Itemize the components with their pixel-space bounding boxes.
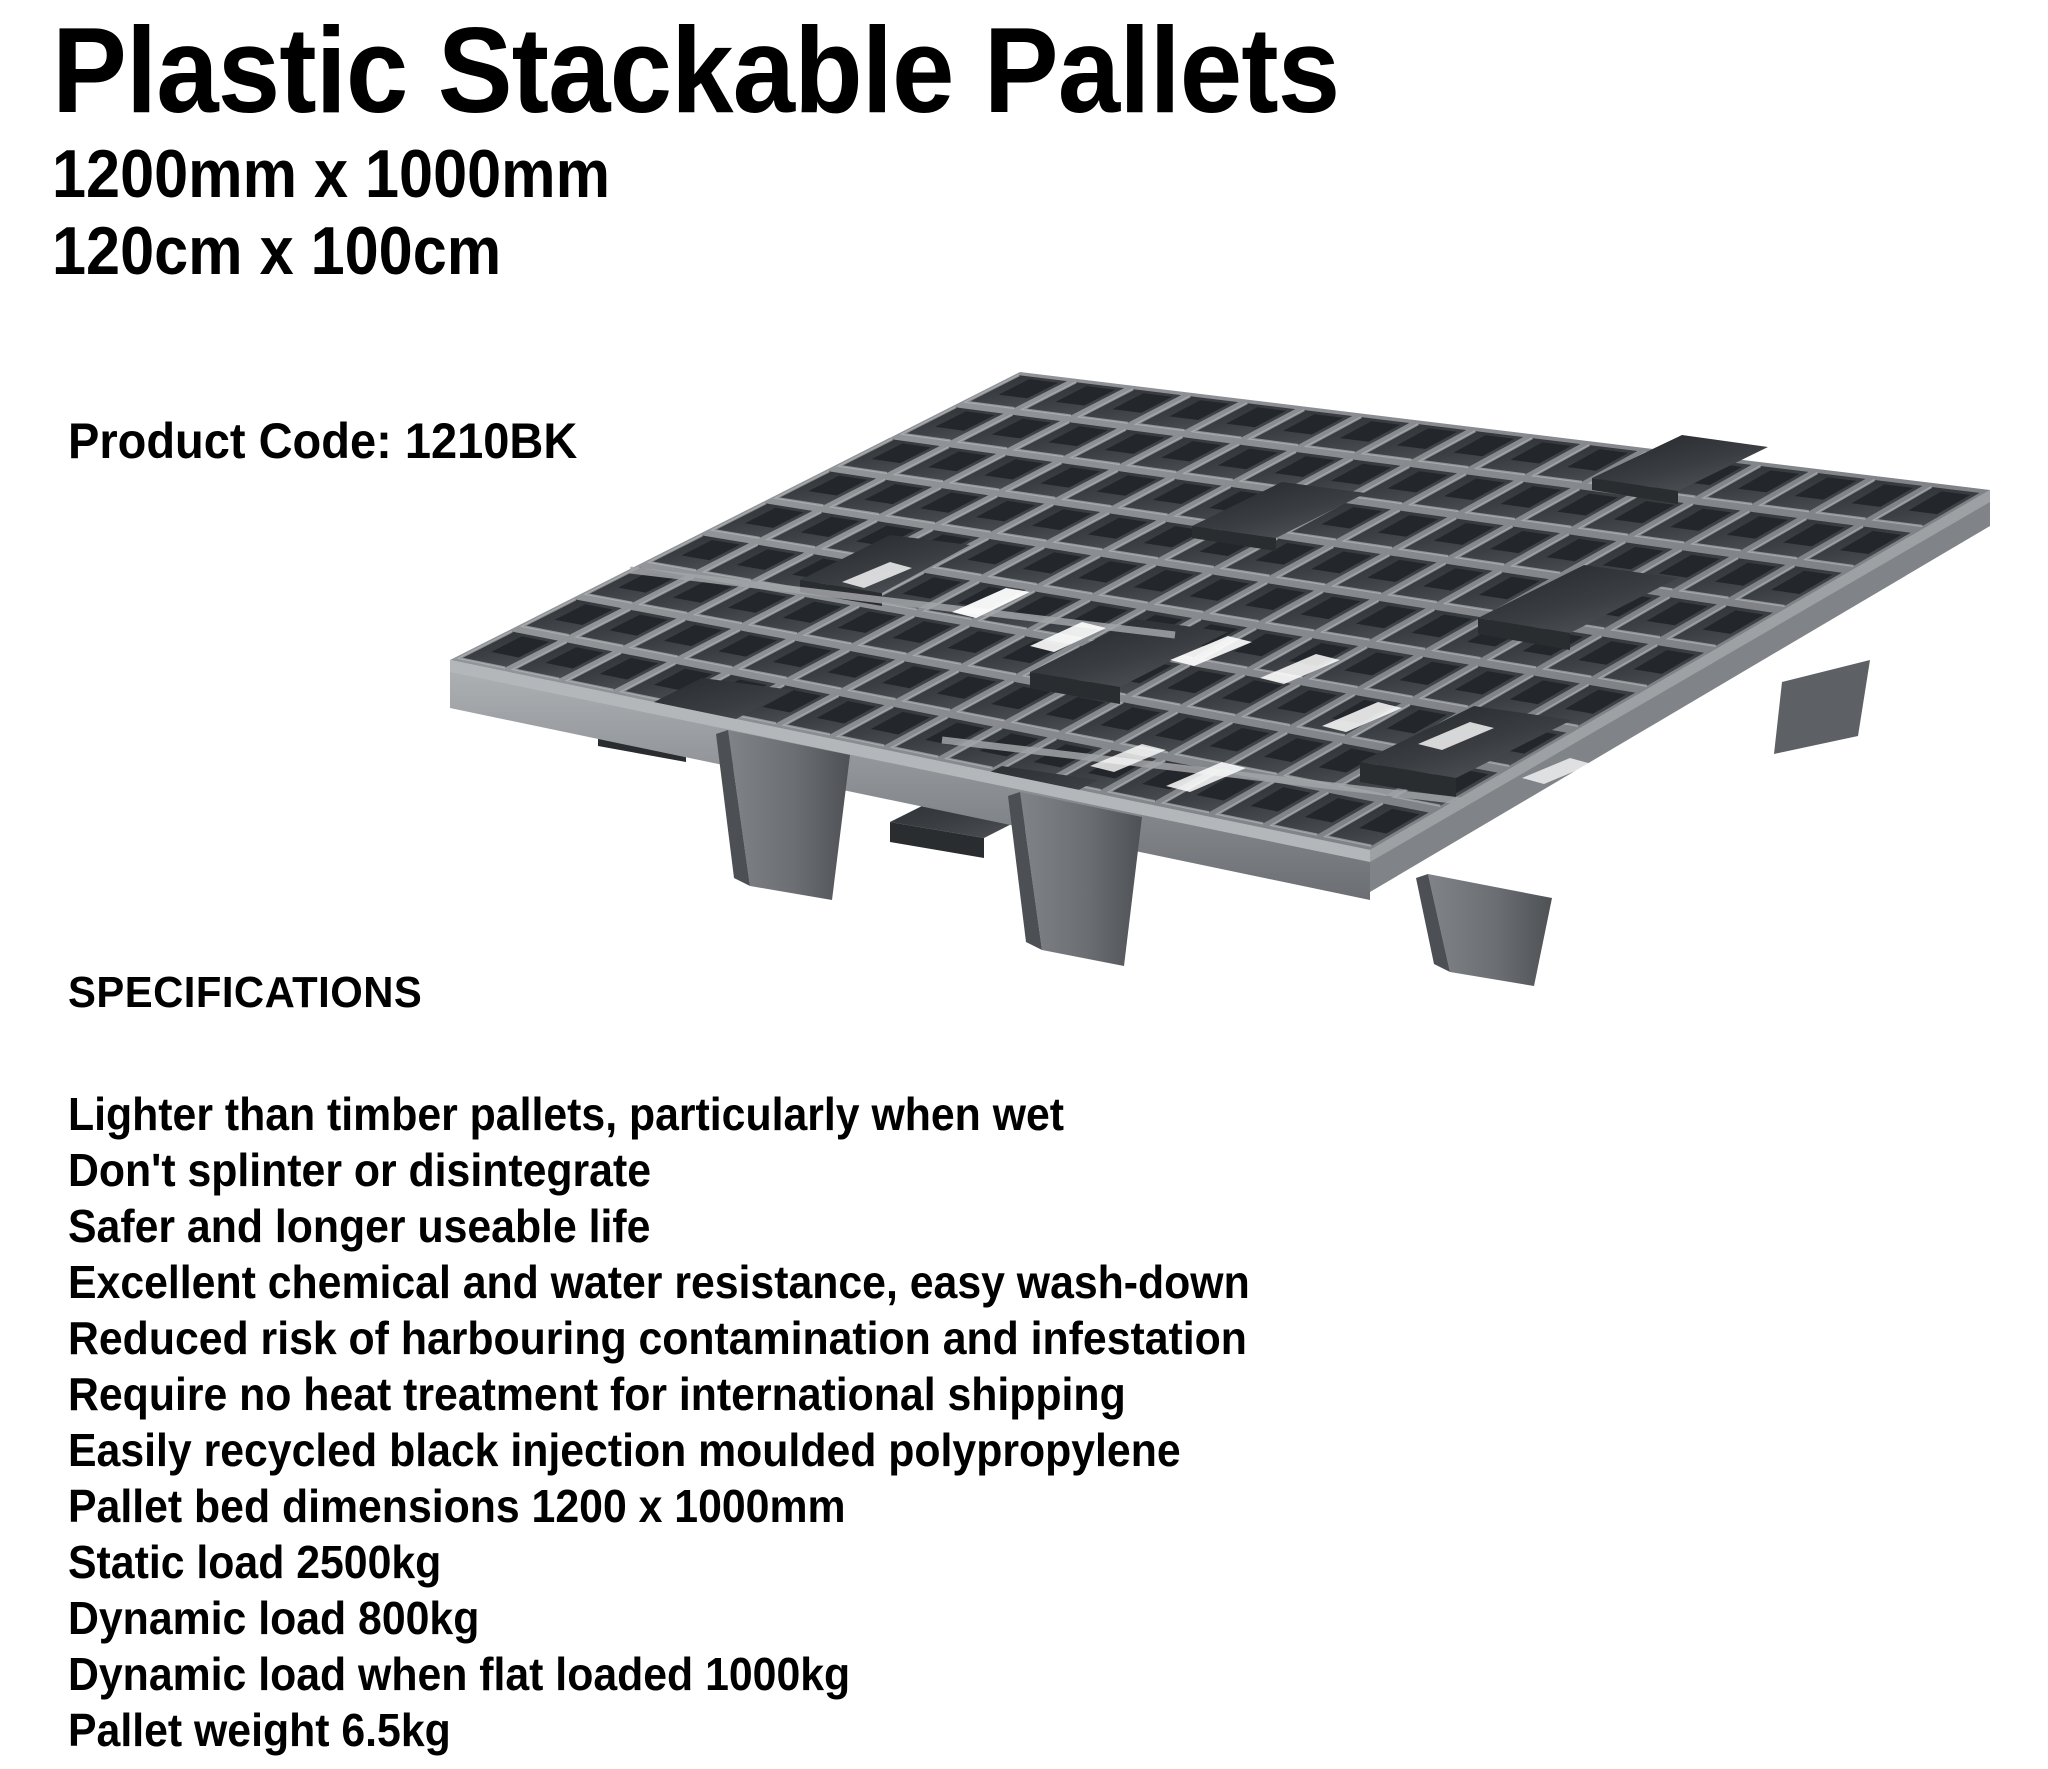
spec-item: Easily recycled black injection moulded … [68, 1422, 1184, 1478]
dimension-mm: 1200mm x 1000mm [52, 136, 1717, 212]
spec-item: Dynamic load 800kg [68, 1590, 1184, 1646]
specifications-heading: SPECIFICATIONS [68, 968, 422, 1018]
spec-item: Reduced risk of harbouring contamination… [68, 1310, 1184, 1366]
spec-item: Pallet weight 6.5kg [68, 1702, 1184, 1758]
spec-item: Lighter than timber pallets, particularl… [68, 1086, 1184, 1142]
spec-item: Excellent chemical and water resistance,… [68, 1254, 1184, 1310]
spec-item: Static load 2500kg [68, 1534, 1184, 1590]
page-title: Plastic Stackable Pallets [52, 8, 1754, 132]
spec-item: Safer and longer useable life [68, 1198, 1184, 1254]
pallet-product-image [330, 330, 2048, 1000]
spec-item: Require no heat treatment for internatio… [68, 1366, 1184, 1422]
specifications-list: Lighter than timber pallets, particularl… [68, 1086, 1268, 1758]
leg-right-mid [1774, 660, 1870, 754]
spec-item: Don't splinter or disintegrate [68, 1142, 1184, 1198]
spec-item: Dynamic load when flat loaded 1000kg [68, 1646, 1184, 1702]
pallet-illustration [330, 330, 2048, 1000]
title-block: Plastic Stackable Pallets 1200mm x 1000m… [52, 8, 1902, 289]
dimension-cm: 120cm x 100cm [52, 213, 1717, 289]
product-spec-sheet: Plastic Stackable Pallets 1200mm x 1000m… [0, 0, 2048, 1769]
pallet-deck [450, 372, 1990, 858]
spec-item: Pallet bed dimensions 1200 x 1000mm [68, 1478, 1184, 1534]
